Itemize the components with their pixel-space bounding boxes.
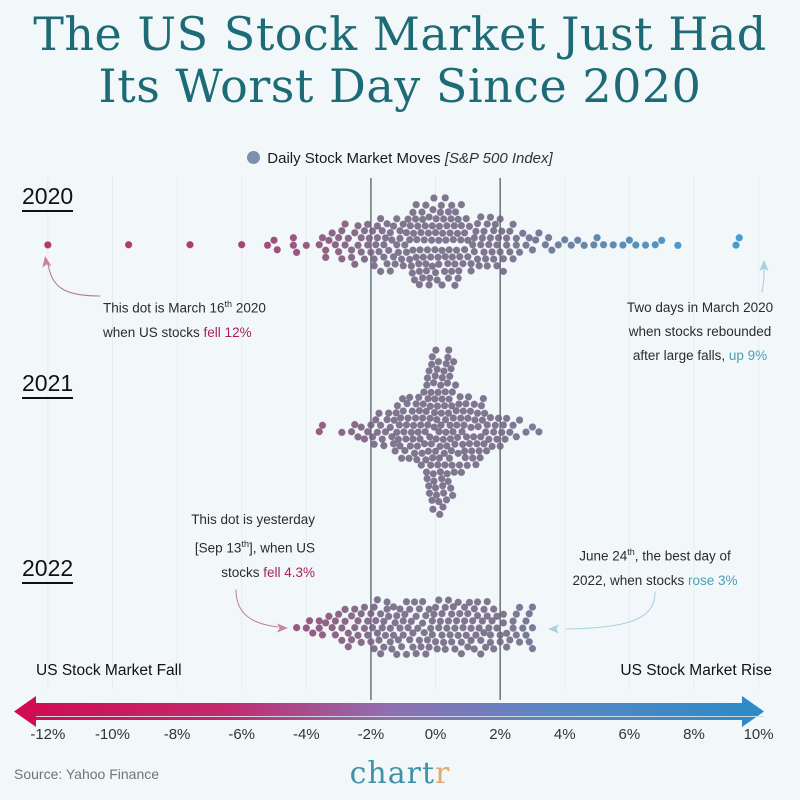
data-point [335,611,342,618]
data-point [468,625,475,632]
axis-tick-10: 8% [683,726,705,743]
data-point [361,256,368,263]
data-point [465,253,472,260]
data-point [368,422,375,429]
data-point [326,237,333,244]
data-point [516,249,523,256]
data-point [319,234,326,241]
data-point [361,625,368,632]
data-point [482,429,489,436]
data-point [406,256,413,263]
data-point [332,241,339,248]
data-point [319,422,326,429]
data-point [355,617,362,624]
data-point [429,631,436,638]
annotation-line: June 24th, the best day of [545,540,765,569]
data-point [448,268,455,275]
data-point [445,275,452,282]
data-point [413,650,420,657]
data-point [452,282,459,289]
data-point [358,249,365,256]
data-point [368,638,375,645]
data-point [430,206,437,213]
axis-tick-6: 0% [425,726,447,743]
data-point [397,415,404,422]
data-point [444,260,451,267]
data-point [451,469,458,476]
data-point [306,617,313,624]
data-point [395,249,402,256]
data-point [392,261,399,268]
data-point [443,429,450,436]
data-point [494,625,501,632]
axis-tick-11: 10% [744,726,774,743]
data-point [455,401,462,408]
data-point [355,242,362,249]
data-point [445,478,452,485]
data-point [453,407,460,414]
data-point [474,220,481,227]
data-point [358,639,365,646]
data-point [424,422,431,429]
data-point [421,440,428,447]
data-point [435,624,442,631]
data-point [477,214,484,221]
data-point [481,606,488,613]
data-point [507,429,514,436]
data-point [460,408,467,415]
data-point [351,229,358,236]
callout-line-sep13 [236,590,278,627]
data-point [424,375,431,382]
data-point [364,632,371,639]
callout-arrow-sep13 [277,623,288,632]
data-point [449,389,456,396]
annotation-line: stocks fell 4.3% [150,561,315,585]
annotation-highlight: rose 3% [688,573,738,588]
axis-caption-rise: US Stock Market Rise [620,662,772,680]
data-point [406,455,413,462]
data-point [484,263,491,270]
data-point [481,410,488,417]
data-point [516,604,523,611]
callout-line-rebound [762,268,764,292]
data-point [332,618,339,625]
data-point [442,646,449,653]
data-point [372,617,379,624]
data-point [430,379,437,386]
data-point [413,613,420,620]
data-point [442,194,449,201]
data-point [465,644,472,651]
logo-main: chart [350,756,435,791]
data-point [432,269,439,276]
axis-tick-row: -12%-10%-8%-6%-4%-2%0%2%4%6%8%10% [0,726,800,750]
data-point [532,237,539,244]
data-point [466,223,473,230]
data-point [415,429,422,436]
data-point [482,256,489,263]
data-point [444,380,451,387]
data-point [484,221,491,228]
data-point [468,424,475,431]
data-point [600,241,607,248]
axis-tick-9: 6% [619,726,641,743]
data-point [427,462,434,469]
data-point [439,230,446,237]
data-point [452,209,459,216]
data-point [471,605,478,612]
data-point [403,598,410,605]
data-point [374,630,381,637]
data-point [620,242,627,249]
data-point [449,254,456,261]
data-point [293,624,300,631]
data-point [497,249,504,256]
data-point [452,646,459,653]
data-point [423,469,430,476]
data-point [376,637,383,644]
data-point [385,613,392,620]
callout-line-june24 [566,592,655,629]
data-point [440,504,447,511]
data-point [439,632,446,639]
data-point [432,604,439,611]
data-point [497,632,504,639]
data-point [519,230,526,237]
data-point [510,618,517,625]
data-point [351,606,358,613]
annotation-highlight: fell 12% [204,325,252,340]
beeswarm-plot [0,0,800,800]
data-point [545,234,552,241]
data-point [479,235,486,242]
data-point [430,470,437,477]
data-point [385,410,392,417]
data-point [502,436,509,443]
data-point [411,450,418,457]
data-point [395,436,402,443]
data-point [434,366,441,373]
data-point [429,454,436,461]
data-point [510,625,517,632]
data-point [379,624,386,631]
data-point [500,620,507,627]
data-point [503,242,510,249]
data-point [348,613,355,620]
data-point [437,468,444,475]
data-point [465,610,472,617]
data-point [432,246,439,253]
data-point [397,235,404,242]
data-point [405,216,412,223]
data-point [456,610,463,617]
data-point [322,254,329,261]
data-point [736,234,743,241]
data-point [495,415,502,422]
data-point [461,422,468,429]
data-point [642,242,649,249]
data-point [451,222,458,229]
data-point [452,625,459,632]
annotation-highlight: up 9% [729,348,767,363]
data-point [440,436,447,443]
swarm-2021 [316,347,542,518]
data-point [416,637,423,644]
data-point [426,368,433,375]
data-point [409,408,416,415]
data-point [432,485,439,492]
data-point [400,618,407,625]
data-point [316,625,323,632]
data-point [421,389,428,396]
data-point [439,282,446,289]
data-point [490,227,497,234]
data-point [423,651,430,658]
logo-accent: r [435,756,450,791]
data-point [497,216,504,223]
data-point [371,604,378,611]
swarm-2022 [293,596,536,657]
data-point [461,448,468,455]
data-point [461,618,468,625]
data-point [471,401,478,408]
data-point [394,402,401,409]
axis-tick-1: -10% [95,726,130,743]
data-point [490,429,497,436]
data-point [483,447,490,454]
data-point [421,237,428,244]
data-point [381,241,388,248]
data-point [389,646,396,653]
data-point [418,644,425,651]
data-point [316,428,323,435]
data-point [419,216,426,223]
data-point [329,624,336,631]
data-point [458,650,465,657]
data-point [486,624,493,631]
data-point [387,229,394,236]
data-point [461,230,468,237]
data-point [437,618,444,625]
data-point [448,447,455,454]
axis-tick-8: 4% [554,726,576,743]
data-point [406,394,413,401]
data-point [371,256,378,263]
data-point [523,618,530,625]
data-point [500,255,507,262]
data-point [497,443,504,450]
data-point [480,395,487,402]
data-point [448,202,455,209]
data-point [423,456,430,463]
data-point [435,237,442,244]
data-point [452,261,459,268]
data-point [405,415,412,422]
data-point [293,249,300,256]
data-point [415,260,422,267]
data-point [440,490,447,497]
data-point [371,262,378,269]
data-point [319,632,326,639]
data-point [471,235,478,242]
data-point [458,222,465,229]
data-point [626,237,633,244]
data-point [448,639,455,646]
data-point [403,422,410,429]
axis-tick-0: -12% [30,726,65,743]
data-point [478,402,485,409]
data-point [415,394,422,401]
data-point [322,247,329,254]
data-point [472,417,479,424]
annotation-june24-2022: June 24th, the best day of2022, when sto… [545,540,765,593]
data-point [465,394,472,401]
data-point [468,268,475,275]
data-point [455,599,462,606]
data-point [398,455,405,462]
data-point [408,429,415,436]
data-point [523,242,530,249]
data-point [429,353,436,360]
data-point [453,247,460,254]
data-point [376,248,383,255]
data-point [438,202,445,209]
data-point [358,424,365,431]
data-point [484,422,491,429]
data-point [374,596,381,603]
data-point [652,241,659,248]
data-point [420,254,427,261]
data-point [503,630,510,637]
data-point [437,382,444,389]
data-point [402,242,409,249]
data-point [450,428,457,435]
data-point [439,247,446,254]
data-point [381,644,388,651]
data-point [419,620,426,627]
data-point [423,612,430,619]
data-point [458,201,465,208]
data-point [487,214,494,221]
data-point [510,422,517,429]
data-point [434,403,441,410]
data-point [398,643,405,650]
data-point [366,235,373,242]
data-point [412,216,419,223]
data-point [384,260,391,267]
data-point [404,400,411,407]
data-point [555,242,562,249]
data-point [467,408,474,415]
data-point [574,237,581,244]
data-point [374,429,381,436]
data-point [477,454,484,461]
data-point [372,241,379,248]
data-point [490,606,497,613]
data-point [413,456,420,463]
data-point [434,646,441,653]
data-point [374,234,381,241]
data-point [381,442,388,449]
data-point [358,234,365,241]
data-point [384,220,391,227]
data-point [238,241,245,248]
data-point [440,639,447,646]
data-point [489,249,496,256]
data-point [476,262,483,269]
year-label-2020: 2020 [22,183,73,212]
data-point [474,440,481,447]
annotation-march16-2020: This dot is March 16th 2020when US stock… [103,292,333,345]
annotation-line: when US stocks fell 12% [103,321,333,345]
data-point [377,268,384,275]
data-point [437,443,444,450]
data-point [428,389,435,396]
data-point [487,639,494,646]
data-point [468,637,475,644]
data-point [329,230,336,237]
annotation-rebound-2020: Two days in March 2020when stocks reboun… [600,296,800,368]
data-point [339,429,346,436]
data-point [316,618,323,625]
data-point [444,222,451,229]
data-point [423,261,430,268]
data-point [420,401,427,408]
data-point [549,247,556,254]
data-point [371,645,378,652]
data-point [424,246,431,253]
data-point [454,422,461,429]
chartr-logo: chartr [0,756,800,791]
data-point [426,275,433,282]
data-point [446,396,453,403]
data-point [361,436,368,443]
data-point [492,221,499,228]
data-point [339,227,346,234]
data-point [290,234,297,241]
data-point [406,636,413,643]
data-point [393,612,400,619]
data-point [387,424,394,431]
axis-tick-2: -8% [164,726,191,743]
data-point [507,637,514,644]
data-point [675,242,682,249]
annotation-sep13-2022: This dot is yesterday[Sep 13th], when US… [150,508,315,585]
data-point [342,221,349,228]
data-point [426,644,433,651]
data-point [432,396,439,403]
data-point [377,650,384,657]
axis-rule [36,716,764,717]
data-point [441,450,448,457]
data-point [445,209,452,216]
data-point [442,253,449,260]
data-point [594,234,601,241]
data-point [345,630,352,637]
data-point [450,358,457,365]
data-point [500,422,507,429]
data-point [387,625,394,632]
data-point [474,612,481,619]
data-point [379,227,386,234]
data-point [400,632,407,639]
data-point [339,637,346,644]
data-point [494,262,501,269]
data-point [536,230,543,237]
data-point [536,428,543,435]
data-point [439,374,446,381]
